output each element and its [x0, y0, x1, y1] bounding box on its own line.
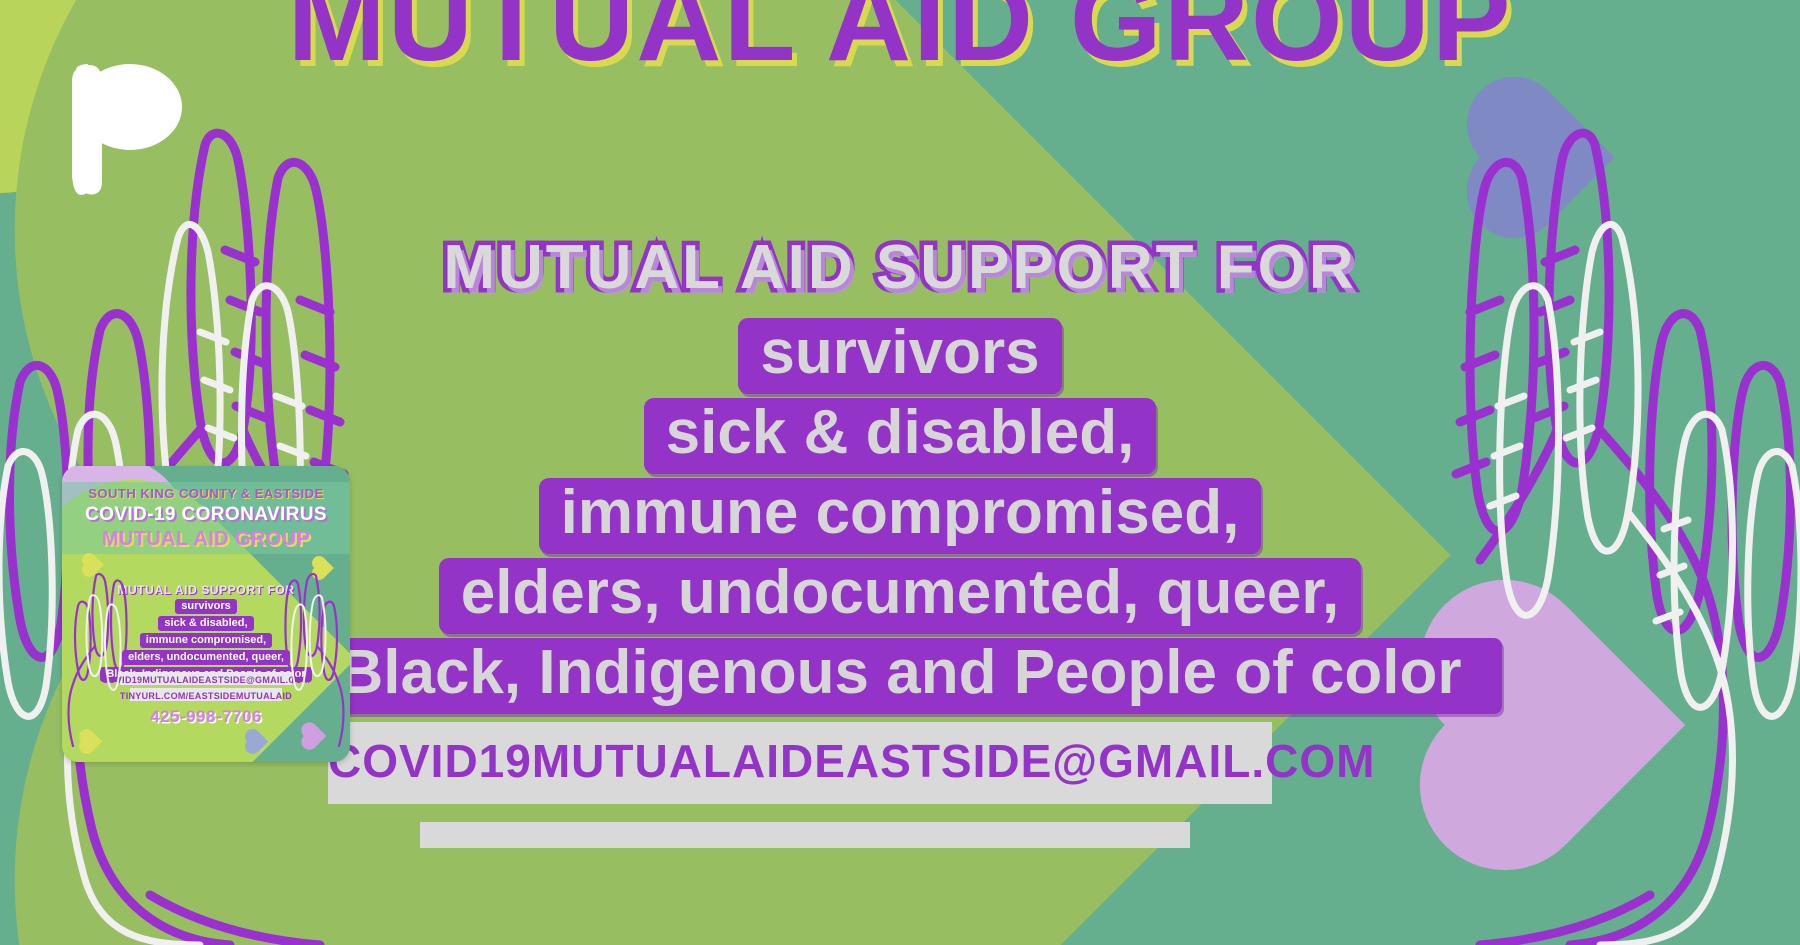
group-pill: immune compromised, [539, 478, 1262, 554]
patreon-logo-icon[interactable] [68, 62, 188, 197]
poster-canvas: MUTUAL AID GROUP MUTUAL AID SUPPORT FOR … [0, 0, 1800, 945]
thumb-hands-illustration [62, 466, 350, 762]
group-pill: elders, undocumented, queer, [439, 558, 1362, 634]
poster-top-title: MUTUAL AID GROUP [0, 0, 1800, 88]
support-heading: MUTUAL AID SUPPORT FOR [0, 232, 1800, 303]
group-pill: sick & disabled, [644, 398, 1157, 474]
poster-secondary-bar [420, 822, 1190, 848]
poster-thumbnail-card[interactable]: SOUTH KING COUNTY & EASTSIDE COVID-19 CO… [62, 466, 350, 762]
group-pill: Black, Indigenous and People of color [298, 638, 1501, 714]
poster-email: COVID19MUTUALAIDEASTSIDE@GMAIL.COM [328, 722, 1272, 804]
group-pill: survivors [738, 318, 1061, 394]
